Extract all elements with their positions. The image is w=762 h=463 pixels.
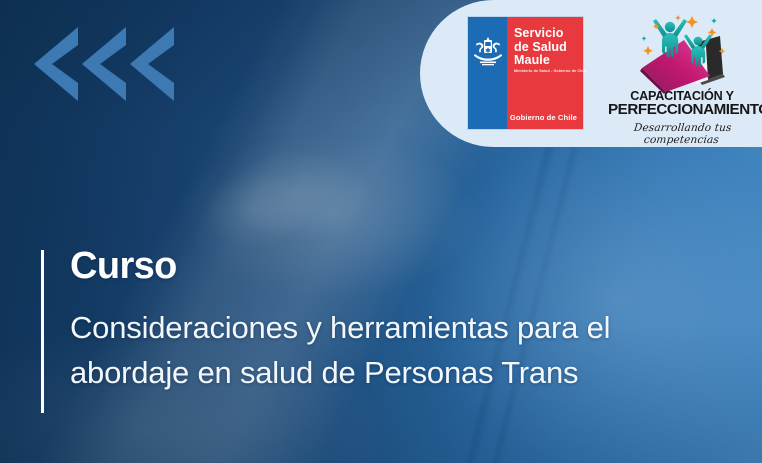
servicio-de-salud-maule-logo: Servicio de Salud Maule Ministerio de Sa… [468,17,583,129]
minsal-title-line-2: de Salud [514,41,567,55]
capacitacion-title-line-2: PERFECCIONAMIENTO [608,103,756,116]
course-title: Consideraciones y herramientas para el a… [70,305,720,395]
accent-bar [41,250,44,413]
chile-coat-of-arms-icon [471,33,505,67]
minsal-logo-footer: Gobierno de Chile [510,113,577,122]
triple-chevron-left-icon [34,27,174,101]
logo-panel: Servicio de Salud Maule Ministerio de Sa… [420,0,762,147]
minsal-logo-blue-band [468,17,507,129]
course-kicker: Curso [70,245,177,288]
course-text-block: Curso Consideraciones y herramientas par… [41,250,731,413]
minsal-logo-red-band: Servicio de Salud Maule Ministerio de Sa… [507,17,583,129]
book-with-two-figures-and-stars-icon [626,10,738,95]
capacitacion-y-perfeccionamiento-logo: CAPACITACIÓN Y PERFECCIONAMIENTO Desarro… [608,10,756,138]
capacitacion-logo-tagline: Desarrollando tus competencias [607,122,758,146]
capacitacion-logo-title: CAPACITACIÓN Y PERFECCIONAMIENTO [608,90,756,117]
course-banner: Servicio de Salud Maule Ministerio de Sa… [0,0,762,463]
minsal-title-line-1: Servicio [514,27,567,41]
minsal-logo-title: Servicio de Salud Maule [514,27,567,68]
minsal-logo-subtitle: Ministerio de Salud - Gobierno de Chile [514,69,587,74]
minsal-title-line-3: Maule [514,54,567,68]
